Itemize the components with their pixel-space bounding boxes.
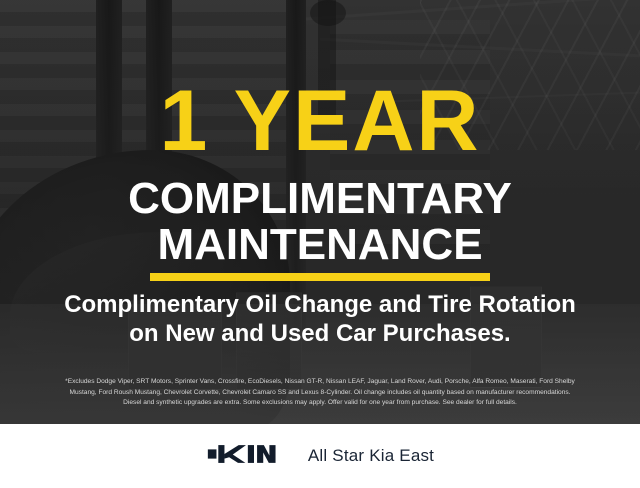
- banner-content: 1 YEAR COMPLIMENTARY MAINTENANCE Complim…: [0, 0, 640, 424]
- disclaimer-text: *Excludes Dodge Viper, SRT Motors, Sprin…: [12, 377, 628, 409]
- kia-logo-icon: [206, 441, 286, 472]
- subheading: Complimentary Oil Change and Tire Rotati…: [0, 290, 640, 348]
- headline-year: 1 YEAR: [0, 78, 640, 164]
- yellow-divider: [150, 273, 490, 281]
- banner-footer: All Star Kia East: [0, 424, 640, 488]
- disclaimer-line-1: *Excludes Dodge Viper, SRT Motors, Sprin…: [12, 377, 628, 388]
- subheading-line-2: on New and Used Car Purchases.: [0, 319, 640, 348]
- disclaimer-line-2: Mustang, Ford Roush Mustang, Chevrolet C…: [12, 388, 628, 399]
- subheading-line-1: Complimentary Oil Change and Tire Rotati…: [0, 290, 640, 319]
- headline-maintenance: MAINTENANCE: [0, 222, 640, 268]
- disclaimer-line-3: Diesel and synthetic upgrades are extra.…: [12, 398, 628, 409]
- promo-banner: 1 YEAR COMPLIMENTARY MAINTENANCE Complim…: [0, 0, 640, 488]
- dealer-name: All Star Kia East: [308, 446, 434, 466]
- headline-complimentary: COMPLIMENTARY: [0, 176, 640, 222]
